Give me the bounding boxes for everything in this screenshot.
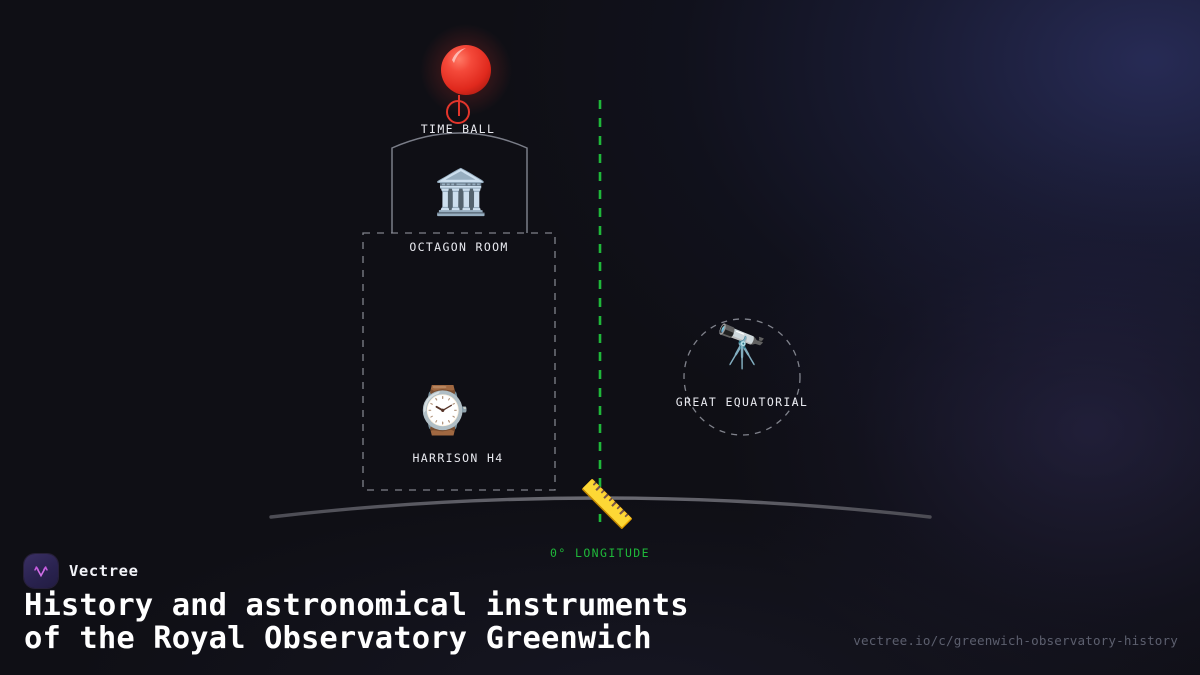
telescope-icon: 🔭	[716, 326, 768, 368]
infographic-canvas: 🏛️ ⌚ 🔭 📏 TIME BALL OCTAGON ROOM HARRISON…	[0, 0, 1200, 675]
time-ball-sphere	[441, 45, 491, 95]
harrison-h4-label: HARRISON H4	[412, 451, 503, 465]
footer: Vectree History and astronomical instrum…	[0, 540, 1200, 675]
classical-building-icon: 🏛️	[434, 171, 489, 215]
page-title-line-2: of the Royal Observatory Greenwich	[24, 622, 854, 655]
page-title-line-1: History and astronomical instruments	[24, 589, 854, 622]
watch-icon: ⌚	[414, 387, 471, 433]
ruler-icon: 📏	[578, 481, 635, 527]
brand-name: Vectree	[69, 562, 139, 580]
octagon-room-label: OCTAGON ROOM	[409, 240, 508, 254]
time-ball-label: TIME BALL	[421, 122, 495, 136]
page-url: vectree.io/c/greenwich-observatory-histo…	[853, 633, 1178, 648]
great-equatorial-label: GREAT EQUATORIAL	[676, 395, 808, 409]
vectree-logo-icon	[24, 554, 58, 588]
brand-row: Vectree	[24, 554, 139, 588]
page-title: History and astronomical instruments of …	[24, 589, 854, 655]
